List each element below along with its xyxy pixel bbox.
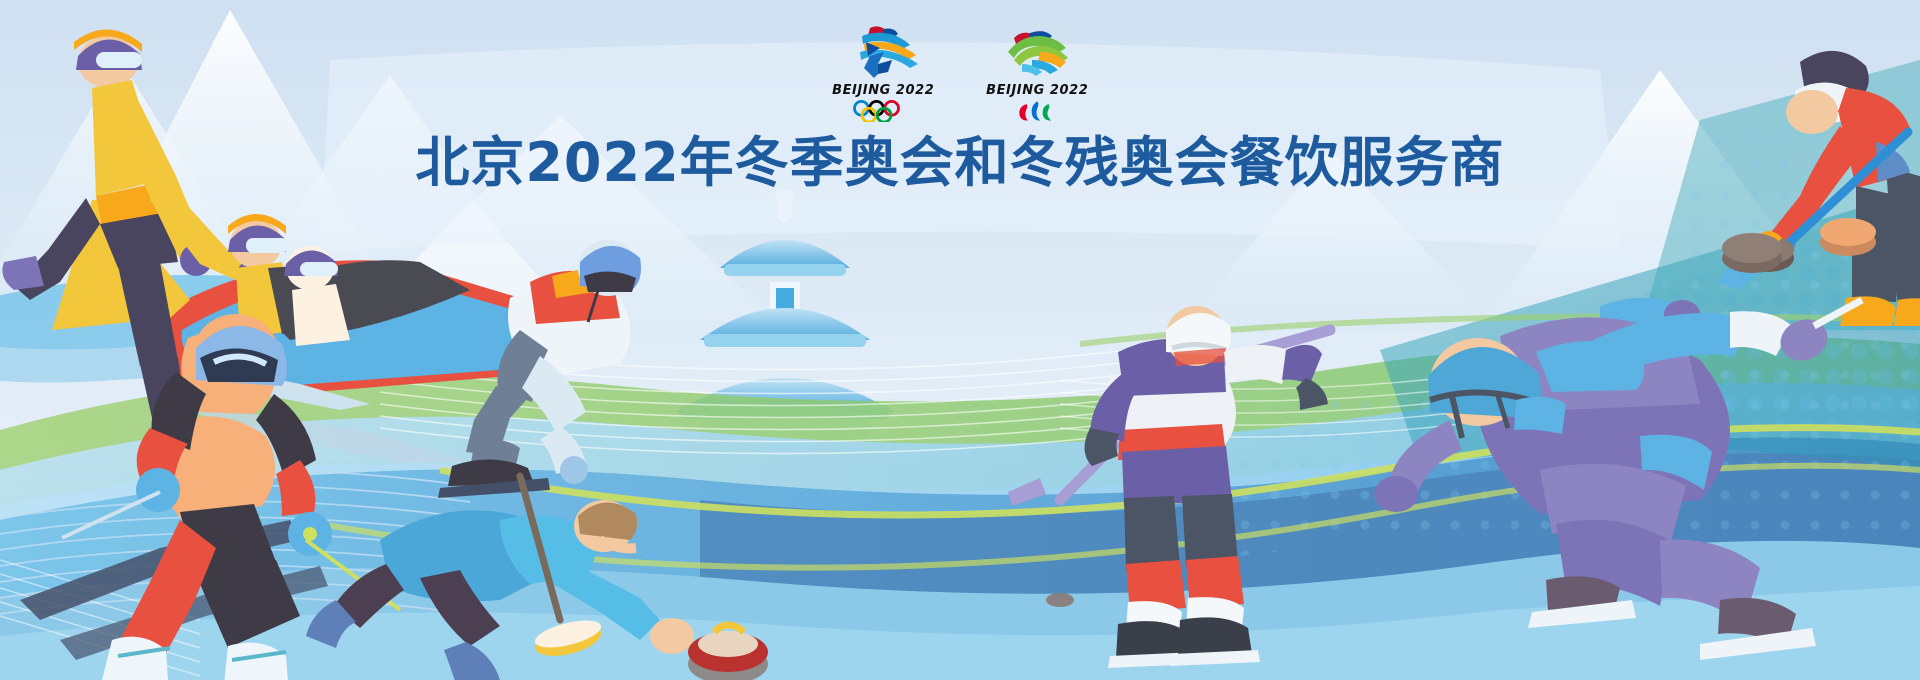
olympic-banner: BEIJING 2022 BEIJIN (0, 0, 1920, 680)
scene-illustration (0, 0, 1920, 680)
